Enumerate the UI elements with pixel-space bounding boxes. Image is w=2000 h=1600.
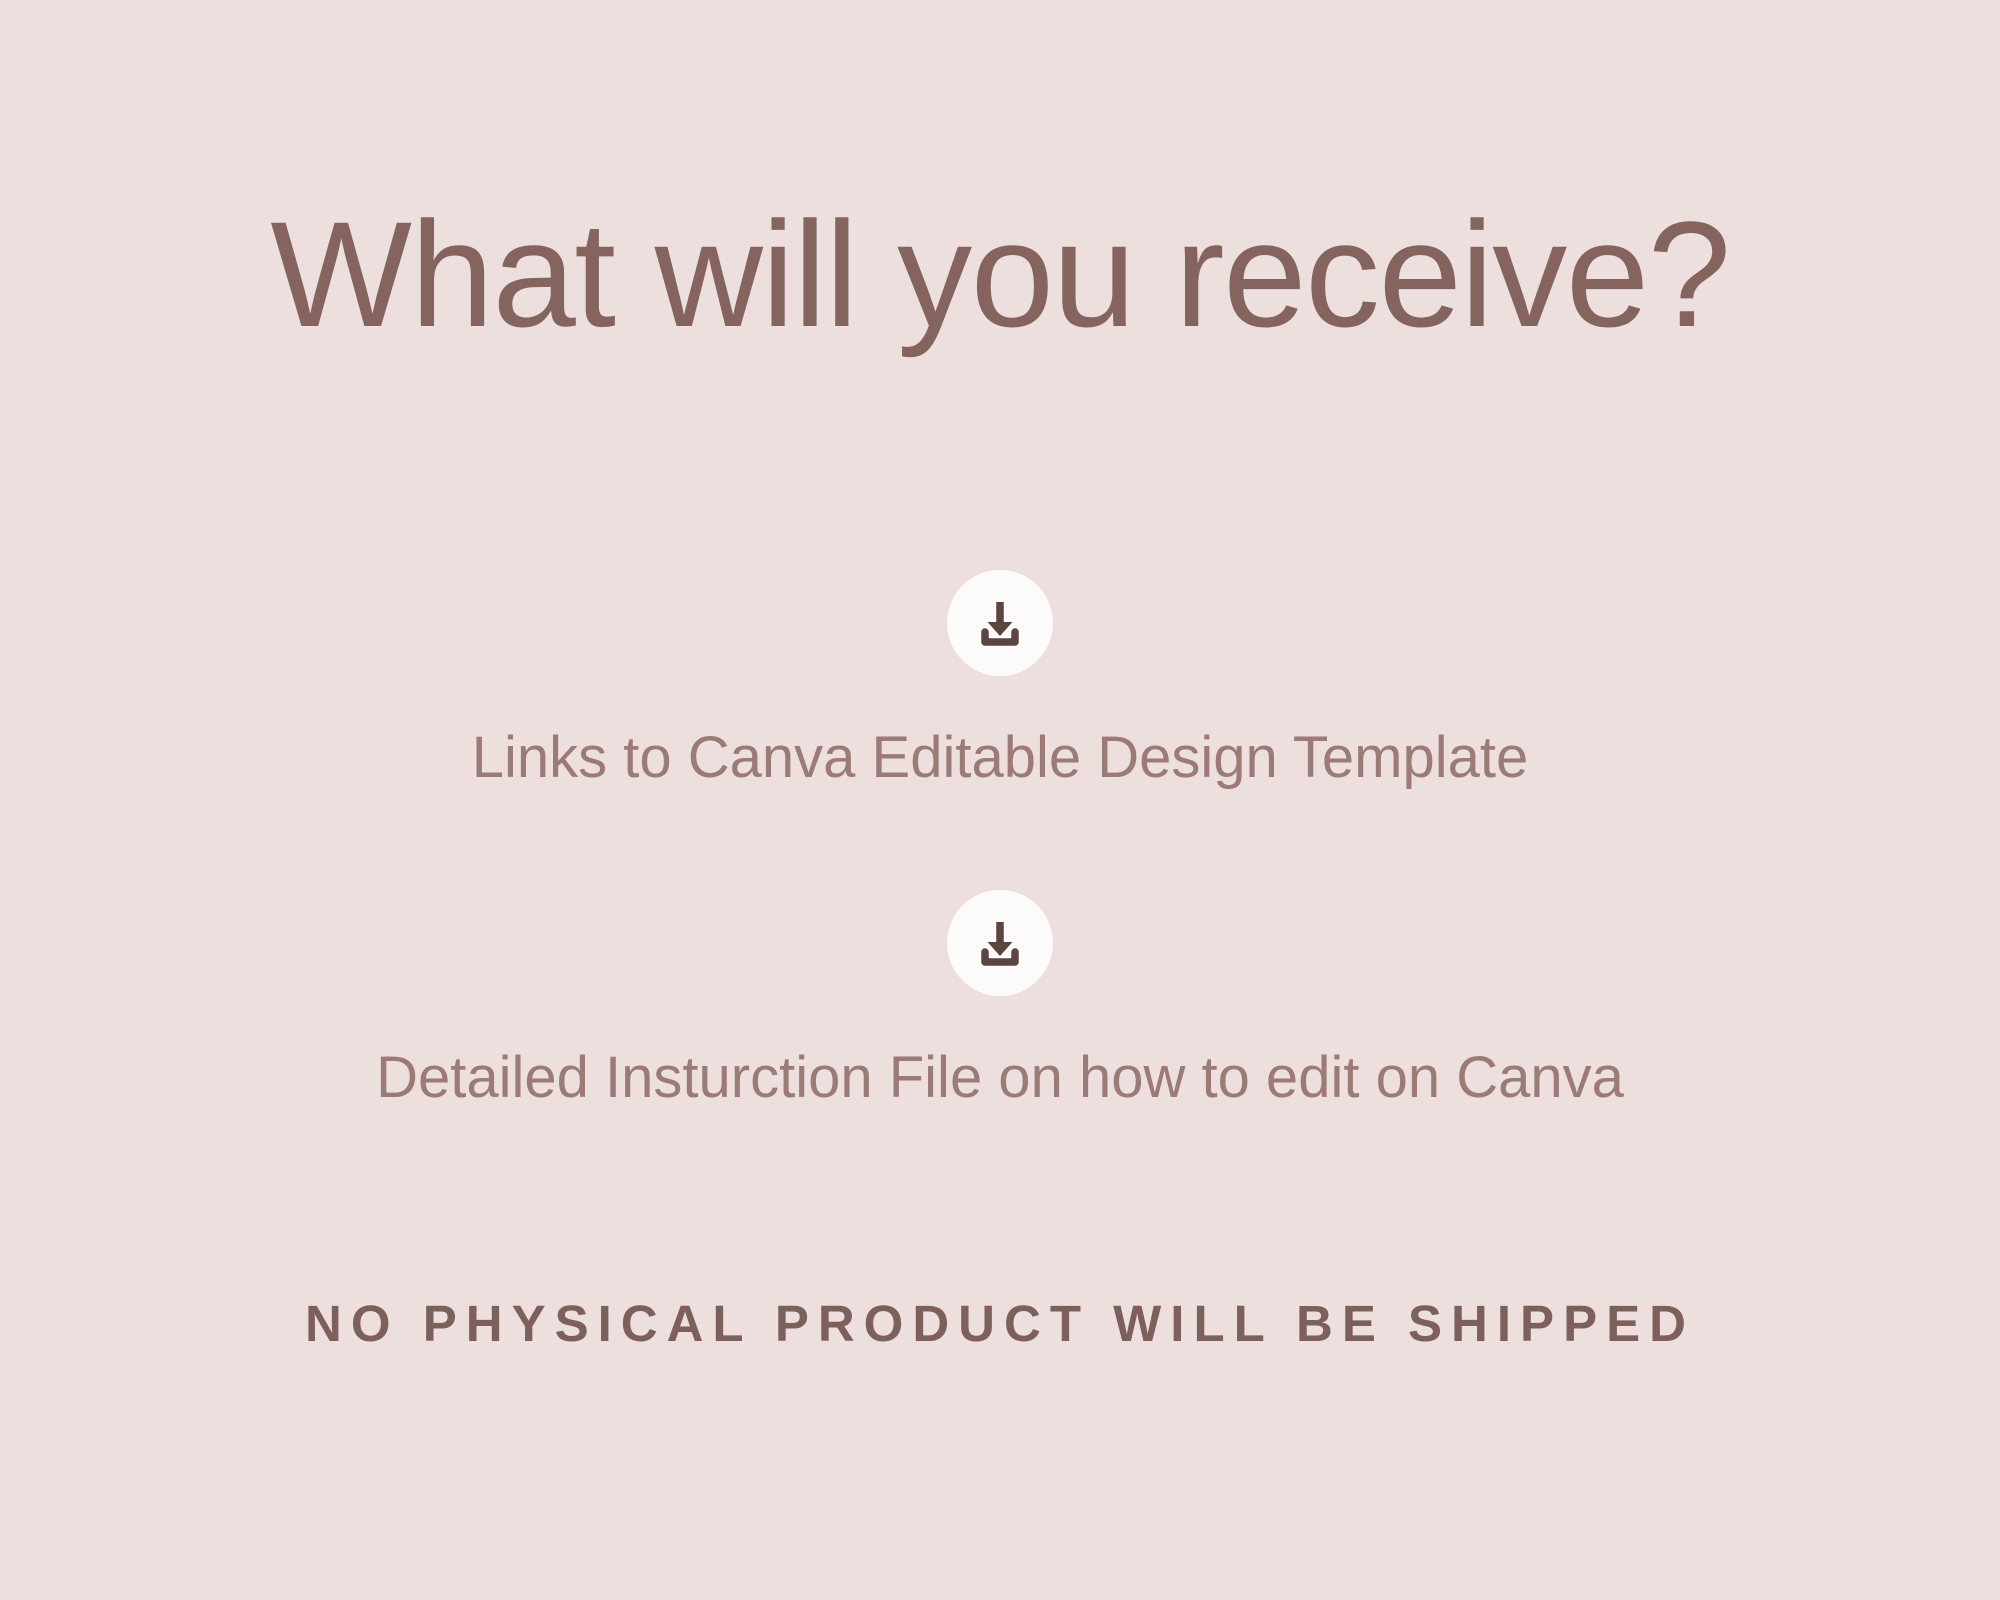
no-physical-product-notice: NO PHYSICAL PRODUCT WILL BE SHIPPED xyxy=(0,1294,2000,1353)
deliverable-label: Links to Canva Editable Design Template xyxy=(472,724,1528,791)
deliverable-item-2: Detailed Insturction File on how to edit… xyxy=(0,890,2000,1111)
receive-info-poster: What will you receive? Links to Canva Ed… xyxy=(0,0,2000,1600)
deliverable-item-1: Links to Canva Editable Design Template xyxy=(0,570,2000,791)
download-icon xyxy=(947,570,1053,676)
download-icon xyxy=(947,890,1053,996)
page-title: What will you receive? xyxy=(0,196,2000,354)
deliverable-label: Detailed Insturction File on how to edit… xyxy=(376,1044,1624,1111)
